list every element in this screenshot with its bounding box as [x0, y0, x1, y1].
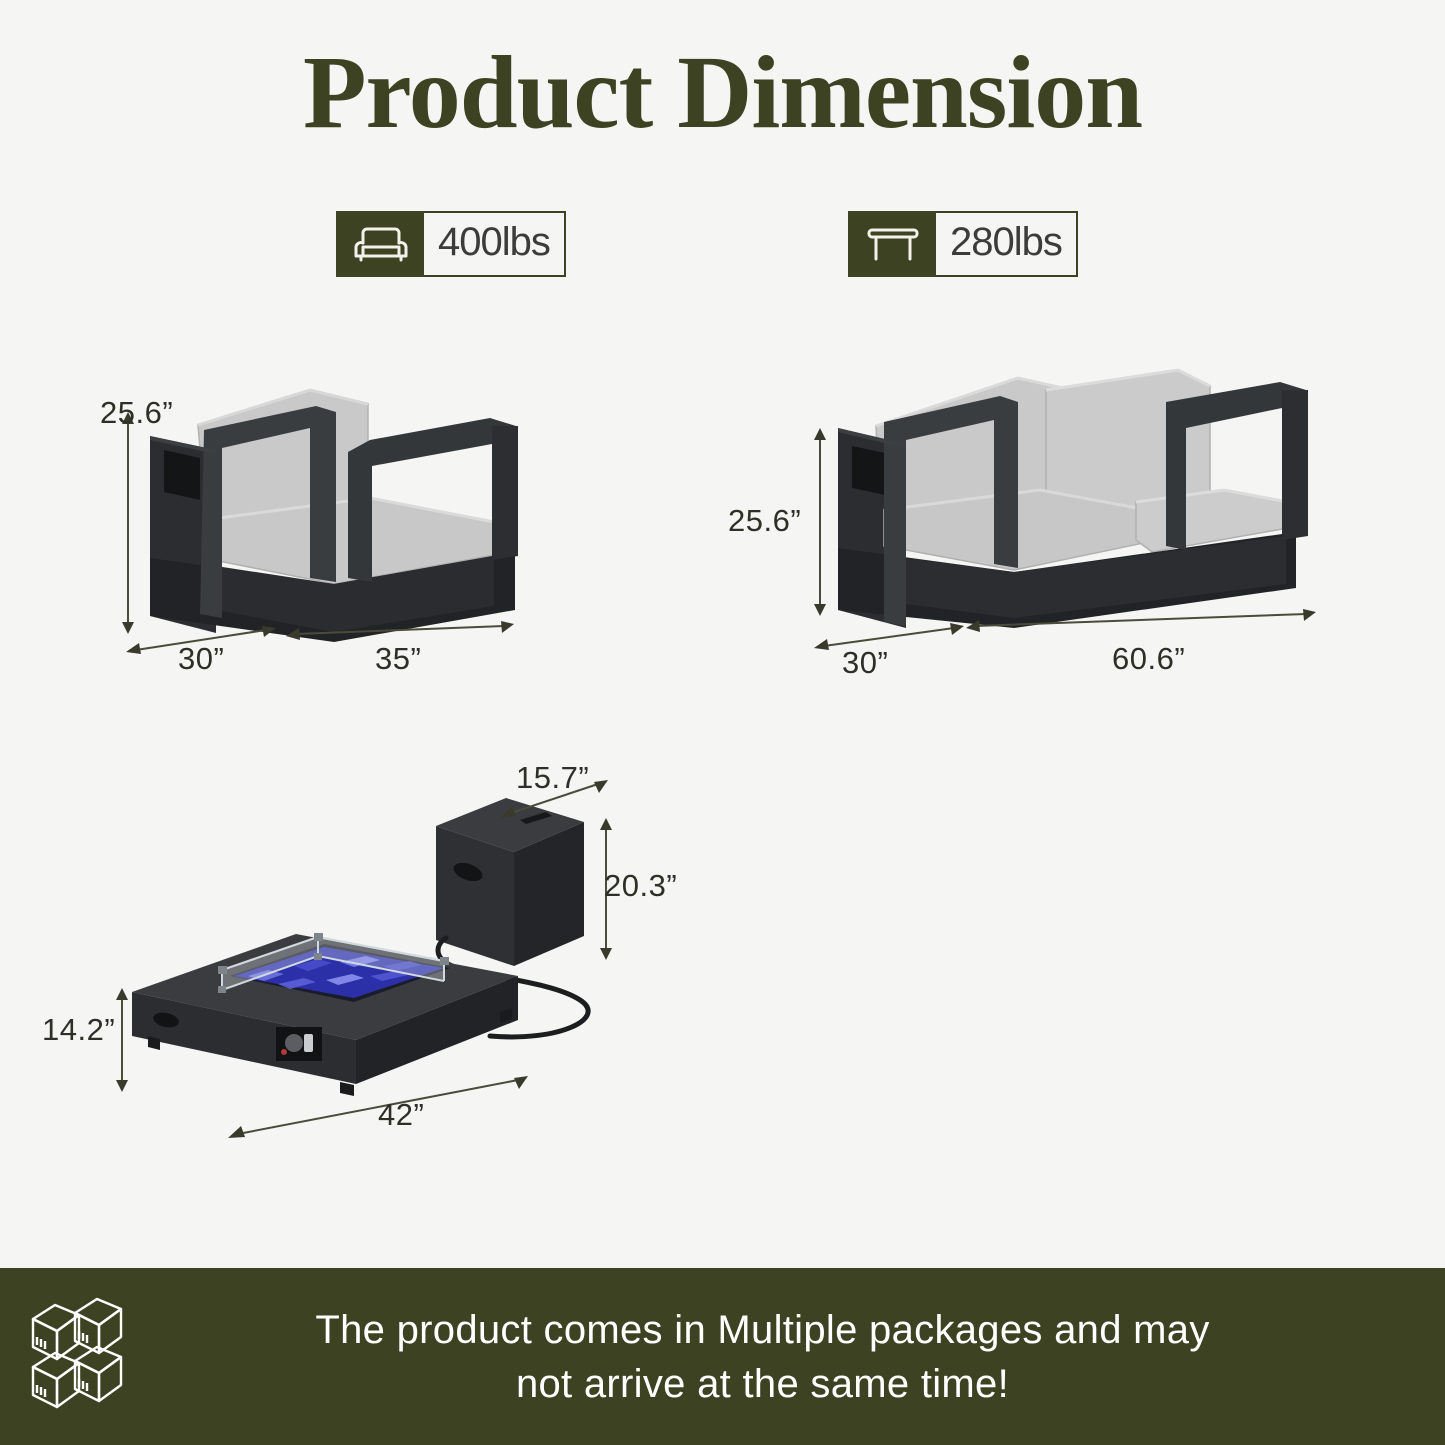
armchair-height-label: 25.6” [100, 395, 173, 431]
shipping-notice-text: The product comes in Multiple packages a… [200, 1303, 1445, 1411]
seat-capacity-value: 400lbs [424, 213, 564, 275]
shipping-notice-line2: not arrive at the same time! [200, 1357, 1325, 1411]
loveseat-depth-arrow [814, 620, 964, 652]
armchair-height-arrow [118, 412, 138, 634]
sofa-icon [338, 213, 424, 275]
loveseat-width-arrow [966, 608, 1316, 634]
tank-height-label: 20.3” [604, 868, 677, 904]
armchair-width-label: 35” [375, 641, 421, 677]
table-capacity-value: 280lbs [936, 213, 1076, 275]
shipping-notice-banner: The product comes in Multiple packages a… [0, 1268, 1445, 1445]
infographic-canvas: Product Dimension 400lbs [0, 0, 1445, 1445]
seat-capacity-badge: 400lbs [336, 211, 566, 277]
loveseat-depth-label: 30” [842, 645, 888, 681]
loveseat-height-label: 25.6” [728, 503, 801, 539]
firepit-height-label: 14.2” [42, 1012, 115, 1048]
armchair-depth-label: 30” [178, 641, 224, 677]
stacked-boxes-icon [0, 1293, 200, 1421]
firepit-width-label: 42” [378, 1097, 424, 1133]
loveseat-height-arrow [810, 428, 830, 616]
table-capacity-badge: 280lbs [848, 211, 1078, 277]
table-icon [850, 213, 936, 275]
page-title: Product Dimension [0, 36, 1445, 150]
shipping-notice-line1: The product comes in Multiple packages a… [200, 1303, 1325, 1357]
loveseat-width-label: 60.6” [1112, 641, 1185, 677]
tank-width-label: 15.7” [516, 760, 589, 796]
